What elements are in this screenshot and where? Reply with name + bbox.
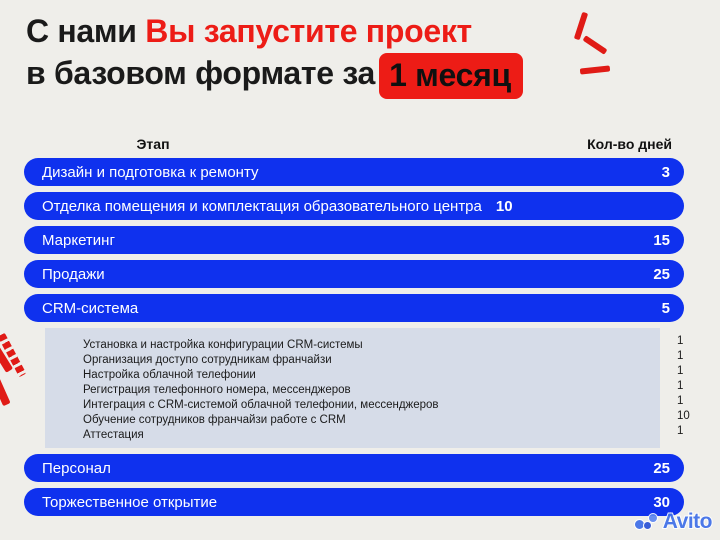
row-stage-label: Маркетинг (42, 232, 115, 249)
avito-watermark: Avito (634, 510, 712, 534)
row-stage-label: Отделка помещения и комплектация образов… (42, 198, 482, 215)
sublist-item: Регистрация телефонного номера, мессендж… (45, 380, 660, 395)
table-row: Торжественное открытие30 (24, 488, 684, 516)
headline-text-black-2: в базовом формате за (26, 55, 375, 91)
sublist-item: Настройка облачной телефонии1 (45, 365, 660, 380)
row-stage-label: CRM-система (42, 300, 138, 317)
column-header-stage: Этап (24, 136, 282, 152)
row-days-value: 15 (645, 232, 670, 249)
sublist-item-days: 1 (677, 380, 683, 392)
sublist-item-days: 1 (677, 335, 683, 347)
sublist-item-label: Аттестация (83, 429, 144, 441)
sublist-item-days: 1 (677, 350, 683, 362)
headline-badge: 1 месяц (379, 53, 523, 99)
sublist-item-days: 10 (677, 410, 690, 422)
table-row: Маркетинг15 (24, 226, 684, 254)
sublist-item: Аттестация1 (45, 425, 660, 440)
crm-sublist-panel: Установка и настройка конфигурации CRM-с… (45, 328, 660, 448)
headline-line-2: в базовом формате за1 месяц (26, 52, 626, 99)
spark-stroke-icon (0, 372, 11, 406)
sublist-item-inner: Аттестация1 (83, 425, 660, 443)
table-rows-bottom: Персонал25Торжественное открытие30 (24, 454, 684, 516)
headline-text-red: Вы запустите проект (145, 13, 472, 49)
row-stage-label: Дизайн и подготовка к ремонту (42, 164, 258, 181)
column-header-days: Кол-во дней (282, 136, 676, 152)
sublist-item: Обучение сотрудников франчайзи работе с … (45, 410, 660, 425)
stages-table: Этап Кол-во дней Дизайн и подготовка к р… (24, 130, 684, 522)
avito-wordmark: Avito (663, 510, 712, 534)
row-days-value: 25 (645, 266, 670, 283)
table-row: Персонал25 (24, 454, 684, 482)
row-days-value: 25 (645, 460, 670, 477)
row-days-value: 30 (645, 494, 670, 511)
sublist-item: Установка и настройка конфигурации CRM-с… (45, 335, 660, 350)
table-row: Дизайн и подготовка к ремонту3 (24, 158, 684, 186)
avito-logo-icon (634, 513, 660, 531)
sublist-item: Интеграция с CRM-системой облачной телеф… (45, 395, 660, 410)
table-header-row: Этап Кол-во дней (24, 130, 684, 152)
table-row: CRM-система5 (24, 294, 684, 322)
row-days-value: 10 (488, 198, 513, 215)
slide-root: { "colors": { "background": "#efeeea", "… (0, 0, 720, 540)
sublist-item-days: 1 (677, 395, 683, 407)
table-rows-top: Дизайн и подготовка к ремонту3Отделка по… (24, 158, 684, 322)
row-days-value: 3 (654, 164, 670, 181)
sublist-item: Организация доступо сотрудникам франчайз… (45, 350, 660, 365)
row-stage-label: Продажи (42, 266, 105, 283)
sublist-item-days: 1 (677, 365, 683, 377)
headline-line-1: С нами Вы запустите проект (26, 10, 626, 52)
table-row: Продажи25 (24, 260, 684, 288)
table-row: Отделка помещения и комплектация образов… (24, 192, 684, 220)
sublist-item-days: 1 (677, 425, 683, 437)
row-days-value: 5 (654, 300, 670, 317)
headline-text-black: С нами (26, 13, 145, 49)
page-title: С нами Вы запустите проект в базовом фор… (26, 10, 626, 99)
row-stage-label: Торжественное открытие (42, 494, 217, 511)
row-stage-label: Персонал (42, 460, 111, 477)
